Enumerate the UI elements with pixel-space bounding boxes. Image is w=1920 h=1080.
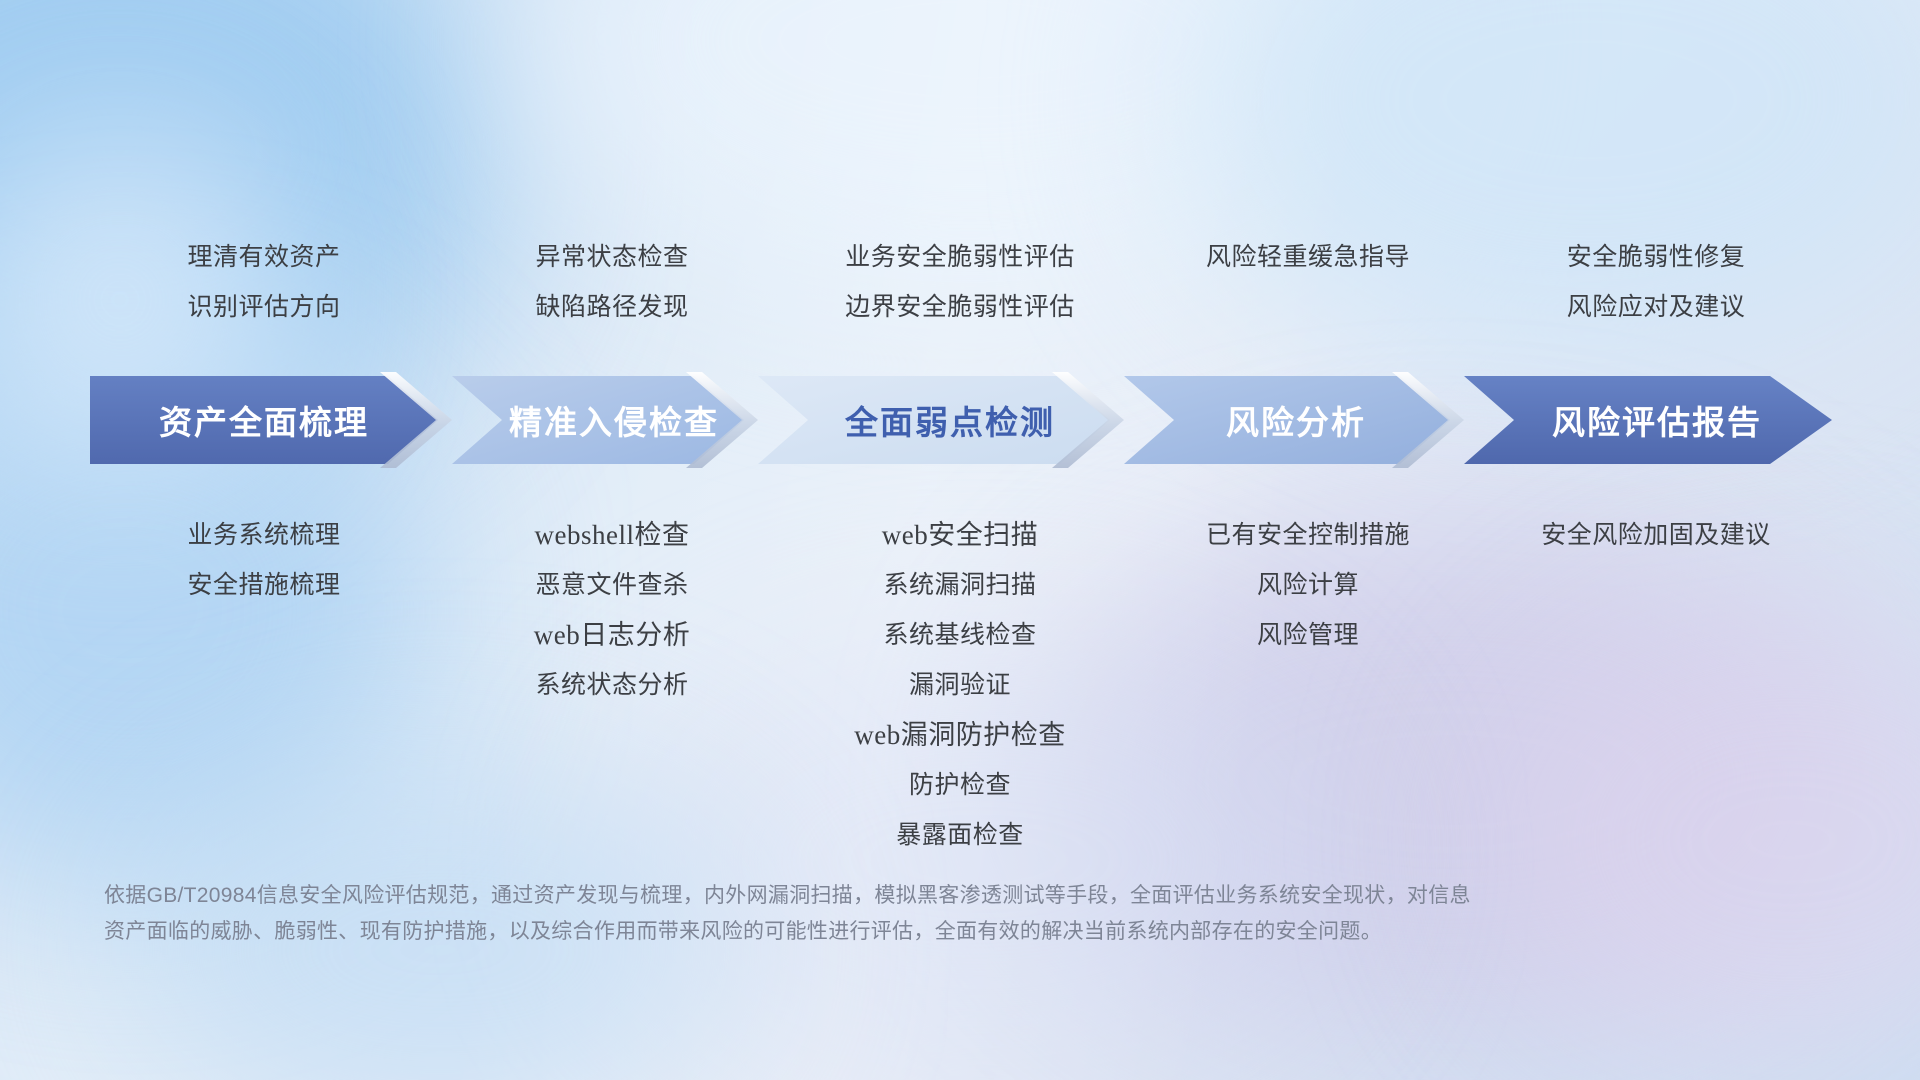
top-descriptor-row: 理清有效资产识别评估方向异常状态检查缺陷路径发现业务安全脆弱性评估边界安全脆弱性… bbox=[90, 232, 1830, 332]
bottom-item: 暴露面检查 bbox=[792, 810, 1128, 860]
bottom-column-intrusion-check: webshell检查恶意文件查杀web日志分析系统状态分析 bbox=[438, 510, 786, 860]
footer-line-1: 依据GB/T20984信息安全风险评估规范，通过资产发现与梳理，内外网漏洞扫描，… bbox=[104, 878, 1644, 914]
bottom-item: 系统状态分析 bbox=[444, 660, 780, 710]
bottom-item: 安全风险加固及建议 bbox=[1488, 510, 1824, 560]
top-item: 边界安全脆弱性评估 bbox=[792, 282, 1128, 332]
top-column-asset-inventory: 理清有效资产识别评估方向 bbox=[90, 232, 438, 332]
bottom-item: 业务系统梳理 bbox=[96, 510, 432, 560]
process-arrow-band: 资产全面梳理 精准入侵检查 全面弱点检测 风险分析 风险评估报告 bbox=[0, 368, 1920, 472]
bottom-item: web安全扫描 bbox=[792, 510, 1128, 560]
stage-title-asset-inventory[interactable]: 资产全面梳理 bbox=[90, 368, 438, 472]
bottom-item: 已有安全控制措施 bbox=[1140, 510, 1476, 560]
bottom-column-risk-report: 安全风险加固及建议 bbox=[1482, 510, 1830, 860]
top-item: 安全脆弱性修复 bbox=[1488, 232, 1824, 282]
stage-title-intrusion-check[interactable]: 精准入侵检查 bbox=[470, 368, 758, 472]
top-column-risk-analysis: 风险轻重缓急指导 bbox=[1134, 232, 1482, 332]
top-item: 缺陷路径发现 bbox=[444, 282, 780, 332]
bottom-item: 风险计算 bbox=[1140, 560, 1476, 610]
top-item: 风险应对及建议 bbox=[1488, 282, 1824, 332]
bottom-item: 安全措施梳理 bbox=[96, 560, 432, 610]
top-item: 业务安全脆弱性评估 bbox=[792, 232, 1128, 282]
bottom-item: webshell检查 bbox=[444, 510, 780, 560]
stage-title-weakness-detection[interactable]: 全面弱点检测 bbox=[776, 368, 1124, 472]
bottom-item: 系统漏洞扫描 bbox=[792, 560, 1128, 610]
slide-content: 理清有效资产识别评估方向异常状态检查缺陷路径发现业务安全脆弱性评估边界安全脆弱性… bbox=[0, 0, 1920, 1080]
bottom-item: 风险管理 bbox=[1140, 610, 1476, 660]
bottom-descriptor-row: 业务系统梳理安全措施梳理webshell检查恶意文件查杀web日志分析系统状态分… bbox=[90, 510, 1830, 860]
bottom-item: 系统基线检查 bbox=[792, 610, 1128, 660]
slide-canvas: 理清有效资产识别评估方向异常状态检查缺陷路径发现业务安全脆弱性评估边界安全脆弱性… bbox=[0, 0, 1920, 1080]
top-column-weakness-detection: 业务安全脆弱性评估边界安全脆弱性评估 bbox=[786, 232, 1134, 332]
top-item: 风险轻重缓急指导 bbox=[1140, 232, 1476, 282]
bottom-column-asset-inventory: 业务系统梳理安全措施梳理 bbox=[90, 510, 438, 860]
top-column-risk-report: 安全脆弱性修复风险应对及建议 bbox=[1482, 232, 1830, 332]
top-item: 识别评估方向 bbox=[96, 282, 432, 332]
top-item: 理清有效资产 bbox=[96, 232, 432, 282]
bottom-item: web日志分析 bbox=[444, 610, 780, 660]
footer-description: 依据GB/T20984信息安全风险评估规范，通过资产发现与梳理，内外网漏洞扫描，… bbox=[104, 878, 1644, 950]
bottom-item: web漏洞防护检查 bbox=[792, 710, 1128, 760]
bottom-item: 漏洞验证 bbox=[792, 660, 1128, 710]
bottom-item: 防护检查 bbox=[792, 760, 1128, 810]
top-column-intrusion-check: 异常状态检查缺陷路径发现 bbox=[438, 232, 786, 332]
bottom-item: 恶意文件查杀 bbox=[444, 560, 780, 610]
stage-title-risk-analysis[interactable]: 风险分析 bbox=[1142, 368, 1450, 472]
bottom-column-weakness-detection: web安全扫描系统漏洞扫描系统基线检查漏洞验证web漏洞防护检查防护检查暴露面检… bbox=[786, 510, 1134, 860]
footer-line-2: 资产面临的威胁、脆弱性、现有防护措施，以及综合作用而带来风险的可能性进行评估，全… bbox=[104, 914, 1644, 950]
bottom-column-risk-analysis: 已有安全控制措施风险计算风险管理 bbox=[1134, 510, 1482, 860]
top-item: 异常状态检查 bbox=[444, 232, 780, 282]
stage-title-risk-report[interactable]: 风险评估报告 bbox=[1482, 368, 1832, 472]
